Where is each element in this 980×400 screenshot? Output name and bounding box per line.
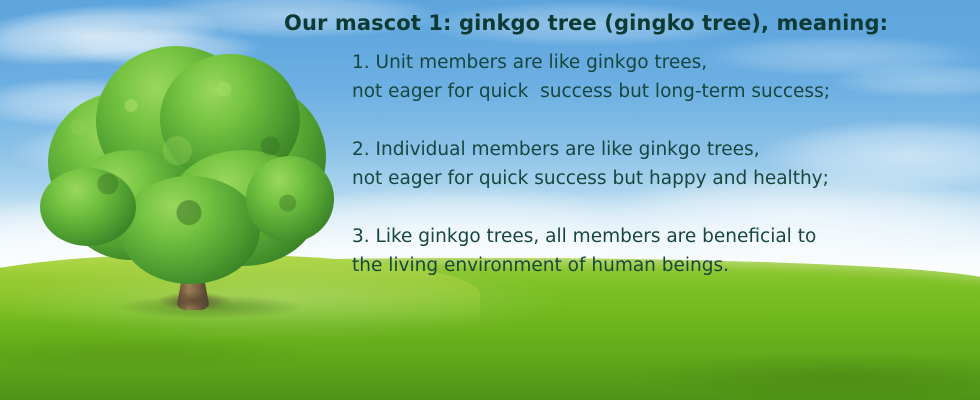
meaning-list: 1. Unit members are like ginkgo trees, n… <box>352 48 952 280</box>
cloud-shape <box>0 0 222 73</box>
mascot-banner: Our mascot 1: ginkgo tree (gingko tree),… <box>0 0 980 400</box>
cloud-shape <box>60 28 260 68</box>
meaning-item-3: 3. Like ginkgo trees, all members are be… <box>352 222 952 280</box>
cloud-shape <box>10 120 290 182</box>
meaning-item-1: 1. Unit members are like ginkgo trees, n… <box>352 48 952 106</box>
page-title: Our mascot 1: ginkgo tree (gingko tree),… <box>284 11 888 35</box>
cloud-shape <box>0 78 200 128</box>
meaning-item-2: 2. Individual members are like ginkgo tr… <box>352 135 952 193</box>
